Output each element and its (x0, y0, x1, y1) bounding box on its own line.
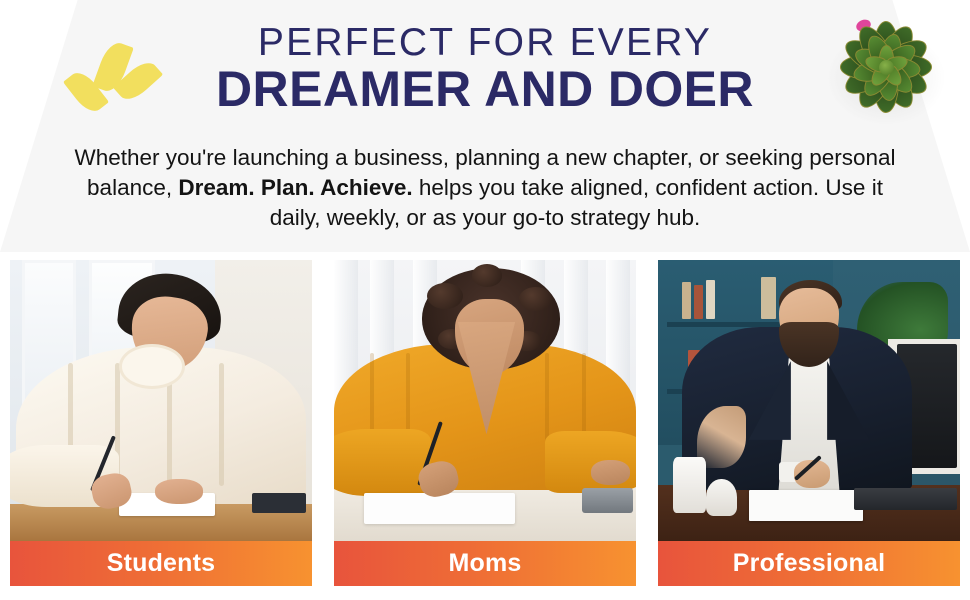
headline-line-1: PERFECT FOR EVERY (0, 22, 970, 64)
audience-card-professional[interactable]: Professional (658, 260, 960, 586)
body-text-emphasis: Dream. Plan. Achieve. (178, 175, 412, 200)
photo-students (10, 260, 312, 541)
audience-card-moms[interactable]: Moms (334, 260, 636, 586)
promo-banner: PERFECT FOR EVERY DREAMER AND DOER Wheth… (0, 0, 970, 600)
card-label-students: Students (10, 541, 312, 586)
headline-block: PERFECT FOR EVERY DREAMER AND DOER (0, 22, 970, 116)
card-label-moms: Moms (334, 541, 636, 586)
headline-line-2: DREAMER AND DOER (0, 62, 970, 116)
body-paragraph: Whether you're launching a business, pla… (70, 143, 900, 233)
card-label-professional: Professional (658, 541, 960, 586)
audience-card-students[interactable]: Students (10, 260, 312, 586)
photo-moms (334, 260, 636, 541)
audience-card-row: Students (10, 260, 960, 586)
photo-professional (658, 260, 960, 541)
